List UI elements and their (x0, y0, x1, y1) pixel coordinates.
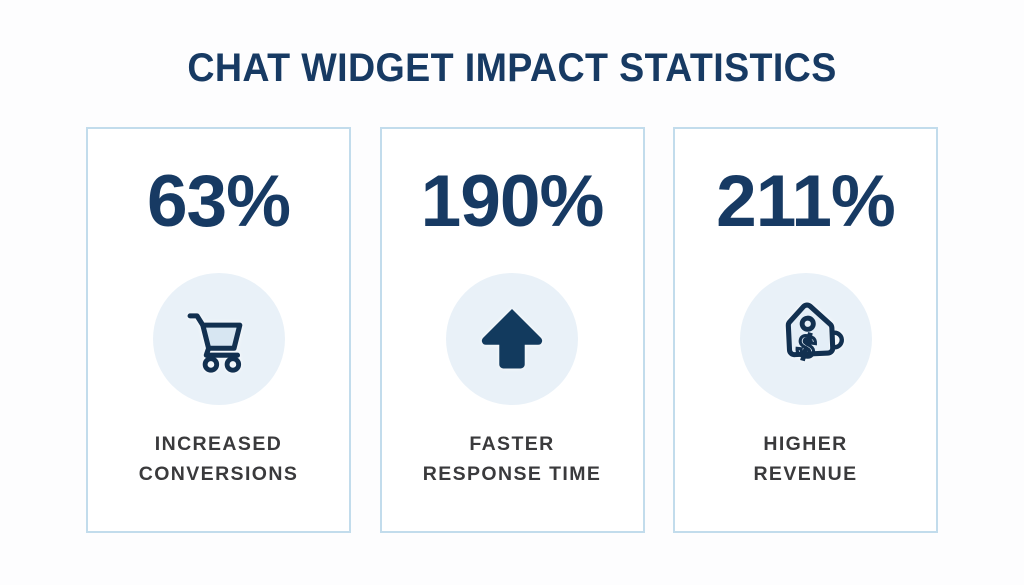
stat-card-faster-response-time: 190% FASTER RESPONSE TIME (380, 127, 645, 533)
shopping-cart-icon (182, 302, 256, 376)
stat-label-line-2: RESPONSE TIME (390, 459, 635, 489)
stat-label: FASTER RESPONSE TIME (382, 429, 643, 489)
stat-value: 190% (421, 165, 604, 238)
stat-label-line-2: REVENUE (683, 459, 928, 489)
stat-label: INCREASED CONVERSIONS (88, 429, 349, 489)
stat-label: HIGHER REVENUE (675, 429, 936, 489)
arrow-up-icon (475, 302, 549, 376)
stat-label-line-1: FASTER (390, 429, 635, 459)
icon-badge (446, 273, 578, 405)
stat-value: 63% (147, 165, 290, 238)
stat-label-line-2: CONVERSIONS (96, 459, 341, 489)
stat-card-increased-conversions: 63% INCREASED CONVERSIONS (86, 127, 351, 533)
infographic-page: CHAT WIDGET IMPACT STATISTICS 63% INCREA… (0, 0, 1024, 585)
stat-label-line-1: HIGHER (683, 429, 928, 459)
page-title: CHAT WIDGET IMPACT STATISTICS (31, 46, 994, 90)
stat-label-line-1: INCREASED (96, 429, 341, 459)
stat-cards-row: 63% INCREASED CONVERSIONS 1 (86, 127, 938, 533)
stat-value: 211% (716, 165, 895, 238)
icon-badge (153, 273, 285, 405)
stat-card-higher-revenue: 211% $ (673, 127, 938, 533)
price-tag-dollar-icon: $ (767, 300, 845, 378)
icon-badge: $ (740, 273, 872, 405)
